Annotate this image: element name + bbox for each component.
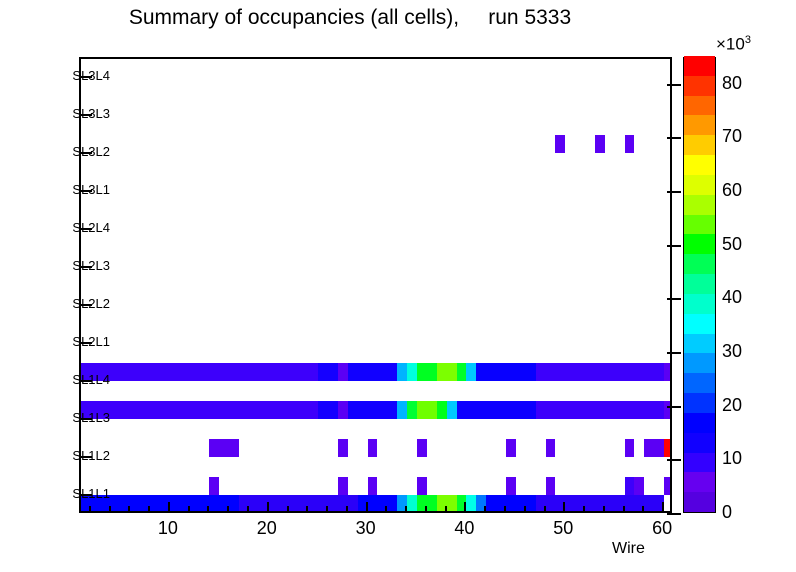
- colorbar: [683, 57, 716, 513]
- heatmap-cell: [536, 363, 625, 381]
- y-axis-label-sl1l1: SL1L1: [0, 487, 110, 500]
- x-axis-tick: [366, 502, 368, 513]
- colorbar-band: [684, 393, 715, 413]
- x-axis-tick-label: 10: [138, 518, 198, 539]
- x-axis-tick: [148, 506, 150, 513]
- colorbar-exponent-power: 3: [745, 34, 751, 46]
- heatmap-cell: [397, 363, 407, 381]
- y-axis-tick: [79, 304, 92, 306]
- x-axis-tick: [504, 506, 506, 513]
- heatmap-cell: [209, 477, 219, 495]
- heatmap-cell: [664, 401, 670, 419]
- heatmap-cell: [407, 401, 417, 419]
- x-axis-tick: [662, 502, 664, 513]
- chart-title: Summary of occupancies (all cells), run …: [0, 6, 700, 30]
- colorbar-tick-label: 70: [722, 126, 742, 147]
- heatmap-cell: [338, 363, 348, 381]
- y-axis-tick: [79, 114, 92, 116]
- heatmap-cell: [417, 363, 437, 381]
- heatmap-cell: [457, 401, 536, 419]
- y-axis-label-sl3l3: SL3L3: [0, 107, 110, 120]
- y-axis-label-sl2l3: SL2L3: [0, 259, 110, 272]
- heatmap-cell: [664, 477, 670, 495]
- colorbar-band: [684, 234, 715, 254]
- x-axis-tick: [544, 506, 546, 513]
- heatmap-cell: [318, 401, 338, 419]
- heatmap-cell: [595, 135, 605, 153]
- y-axis-tick: [79, 76, 92, 78]
- colorbar-tick-label: 20: [722, 395, 742, 416]
- y-axis-label-sl3l1: SL3L1: [0, 183, 110, 196]
- colorbar-band: [684, 76, 715, 96]
- heatmap-cell: [664, 439, 670, 457]
- heatmap-cell: [486, 495, 535, 511]
- heatmap-cell: [634, 477, 644, 495]
- x-axis-tick: [464, 502, 466, 513]
- colorbar-tick: [667, 352, 681, 354]
- x-axis-tick: [207, 506, 209, 513]
- heatmap-cell: [634, 363, 664, 381]
- colorbar-tick: [667, 406, 681, 408]
- heatmap-cell: [397, 401, 407, 419]
- x-axis-tick: [89, 506, 91, 513]
- colorbar-tick-label: 10: [722, 448, 742, 469]
- colorbar-tick-label: 60: [722, 180, 742, 201]
- y-axis-label-sl3l2: SL3L2: [0, 145, 110, 158]
- heatmap-cell: [466, 495, 476, 511]
- y-axis-tick: [79, 266, 92, 268]
- colorbar-band: [684, 373, 715, 393]
- x-axis-tick: [168, 502, 170, 513]
- y-axis-label-sl3l4: SL3L4: [0, 69, 110, 82]
- x-axis-tick-label: 30: [336, 518, 396, 539]
- heatmap-cell: [536, 401, 664, 419]
- heatmap-cell: [476, 363, 535, 381]
- heatmap-cell: [348, 401, 397, 419]
- x-axis-tick: [603, 506, 605, 513]
- heatmap-cell: [368, 439, 378, 457]
- y-axis-tick: [79, 228, 92, 230]
- x-axis-tick: [306, 506, 308, 513]
- x-axis-tick: [405, 506, 407, 513]
- heatmap-cell: [348, 363, 397, 381]
- y-axis-label-sl1l2: SL1L2: [0, 449, 110, 462]
- heatmap-cell: [407, 363, 417, 381]
- heatmap-cell: [625, 135, 635, 153]
- heatmap-cell: [625, 477, 635, 495]
- heatmap-cell: [437, 363, 457, 381]
- colorbar-tick-label: 0: [722, 502, 732, 523]
- heatmap-cell: [209, 439, 239, 457]
- heatmap-cell: [239, 495, 358, 511]
- colorbar-tick: [667, 84, 681, 86]
- heatmap-cells: [81, 59, 670, 511]
- heatmap-cell: [644, 439, 664, 457]
- x-axis-tick: [326, 506, 328, 513]
- x-axis-tick: [346, 506, 348, 513]
- x-axis-tick: [425, 506, 427, 513]
- colorbar-exponent: ×103: [716, 34, 751, 55]
- heatmap-cell: [407, 495, 417, 511]
- heatmap-cell: [368, 477, 378, 495]
- y-axis-tick: [79, 456, 92, 458]
- x-axis-tick: [484, 506, 486, 513]
- colorbar-band: [684, 314, 715, 334]
- heatmap-cell: [437, 401, 447, 419]
- heatmap-cell: [338, 477, 348, 495]
- colorbar-band: [684, 155, 715, 175]
- x-axis-tick-label: 60: [632, 518, 692, 539]
- x-axis-tick: [642, 506, 644, 513]
- y-axis-tick: [79, 190, 92, 192]
- y-axis-label-sl1l3: SL1L3: [0, 411, 110, 424]
- heatmap-cell: [546, 439, 556, 457]
- colorbar-tick-label: 50: [722, 234, 742, 255]
- colorbar-tick: [667, 245, 681, 247]
- heatmap-cell: [417, 477, 427, 495]
- colorbar-band: [684, 492, 715, 512]
- y-axis-tick: [79, 152, 92, 154]
- x-axis-tick: [524, 506, 526, 513]
- heatmap-cell: [447, 401, 457, 419]
- y-axis-tick: [79, 380, 92, 382]
- heatmap-cell: [506, 477, 516, 495]
- heatmap-cell: [358, 495, 398, 511]
- heatmap-cell: [417, 439, 427, 457]
- heatmap-cell: [664, 363, 670, 381]
- heatmap-cell: [318, 363, 338, 381]
- colorbar-band: [684, 254, 715, 274]
- heatmap-cell: [457, 363, 467, 381]
- colorbar-tick: [667, 459, 681, 461]
- heatmap-cell: [81, 363, 318, 381]
- x-axis-tick-label: 40: [434, 518, 494, 539]
- colorbar-tick-label: 30: [722, 341, 742, 362]
- x-axis-tick: [247, 506, 249, 513]
- colorbar-band: [684, 135, 715, 155]
- x-axis-tick: [109, 506, 111, 513]
- heatmap-cell: [536, 495, 664, 511]
- heatmap-cell: [437, 495, 457, 511]
- y-axis-label-sl2l2: SL2L2: [0, 297, 110, 310]
- heatmap-cell: [625, 439, 635, 457]
- colorbar-band: [684, 333, 715, 353]
- colorbar-tick: [667, 137, 681, 139]
- x-axis-tick: [227, 506, 229, 513]
- colorbar-band: [684, 115, 715, 135]
- y-axis-label-sl2l4: SL2L4: [0, 221, 110, 234]
- colorbar-band: [684, 433, 715, 453]
- y-axis-label-sl1l4: SL1L4: [0, 373, 110, 386]
- heatmap-cell: [338, 439, 348, 457]
- colorbar-band: [684, 294, 715, 314]
- x-axis-tick-label: 20: [237, 518, 297, 539]
- x-axis-tick: [267, 502, 269, 513]
- x-axis-tick: [128, 506, 130, 513]
- y-axis-label-sl2l1: SL2L1: [0, 335, 110, 348]
- heatmap-cell: [466, 363, 476, 381]
- x-axis-tick: [623, 506, 625, 513]
- colorbar-band: [684, 353, 715, 373]
- x-axis-tick: [188, 506, 190, 513]
- x-axis-tick: [563, 502, 565, 513]
- plot-frame: [79, 57, 672, 513]
- colorbar-band: [684, 274, 715, 294]
- colorbar-tick-label: 80: [722, 73, 742, 94]
- colorbar-band: [684, 95, 715, 115]
- x-axis-tick: [445, 506, 447, 513]
- heatmap-cell: [338, 401, 348, 419]
- colorbar-band: [684, 175, 715, 195]
- x-axis-title: Wire: [612, 540, 645, 558]
- colorbar-band: [684, 413, 715, 433]
- colorbar-tick: [667, 191, 681, 193]
- heatmap-cell: [555, 135, 565, 153]
- heatmap-cell: [506, 439, 516, 457]
- colorbar-band: [684, 195, 715, 215]
- x-axis-tick: [287, 506, 289, 513]
- x-axis-tick: [385, 506, 387, 513]
- heatmap-cell: [81, 401, 318, 419]
- colorbar-band: [684, 452, 715, 472]
- colorbar-band: [684, 214, 715, 234]
- y-axis-tick: [79, 494, 92, 496]
- heatmap-cell: [546, 477, 556, 495]
- colorbar-tick: [667, 513, 681, 515]
- colorbar-band: [684, 472, 715, 492]
- heatmap-cell: [417, 495, 437, 511]
- colorbar-tick-label: 40: [722, 287, 742, 308]
- colorbar-tick: [667, 298, 681, 300]
- y-axis-tick: [79, 342, 92, 344]
- heatmap-cell: [417, 401, 437, 419]
- colorbar-band: [684, 56, 715, 76]
- y-axis-tick: [79, 418, 92, 420]
- x-axis-tick: [583, 506, 585, 513]
- heatmap-cell: [625, 363, 635, 381]
- x-axis-tick-label: 50: [533, 518, 593, 539]
- root-canvas: Summary of occupancies (all cells), run …: [0, 0, 796, 572]
- colorbar-exponent-base: ×10: [716, 35, 745, 54]
